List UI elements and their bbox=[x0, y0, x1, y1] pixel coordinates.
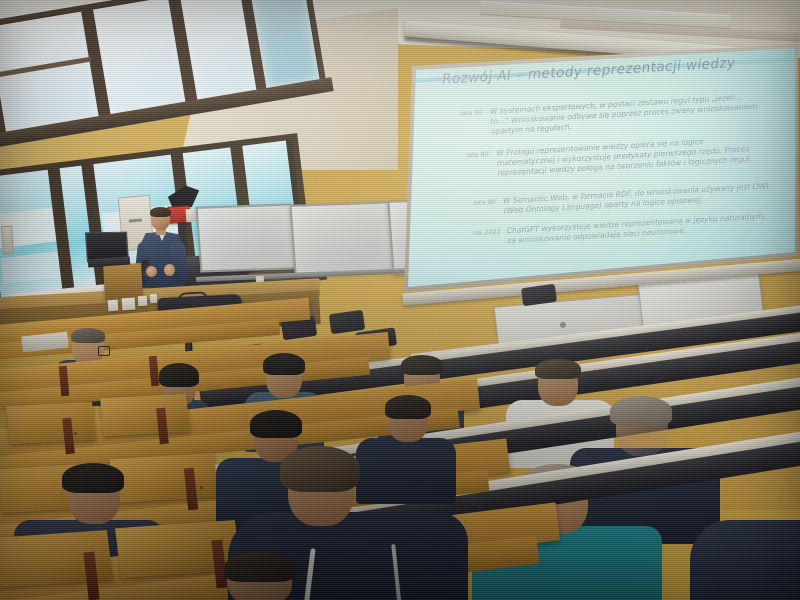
desk-object bbox=[122, 298, 136, 311]
slide-row-text: W systemach ekspertowych, w postaci zest… bbox=[490, 92, 759, 138]
lecture-hall-photo: Rozwój AI – metody reprezentacji wiedzy … bbox=[0, 0, 800, 600]
attendee-hair bbox=[610, 396, 672, 426]
bench-screw bbox=[200, 486, 203, 489]
attendee-hair bbox=[159, 363, 199, 387]
slide-row-era: lata 80' bbox=[442, 149, 490, 161]
projection-screen: Rozwój AI – metody reprezentacji wiedzy … bbox=[398, 38, 796, 300]
attendee-partial-torso bbox=[690, 520, 800, 600]
presenter-hair bbox=[150, 207, 171, 217]
glasses-icon bbox=[98, 346, 110, 356]
lectern bbox=[103, 263, 143, 299]
slide-row-text: W Semantic Web, w formacie RDF, do wnios… bbox=[503, 181, 772, 217]
slide-row-era: lata 90' bbox=[449, 197, 497, 209]
attendee-hair bbox=[62, 463, 124, 493]
whiteboard-panel-2[interactable] bbox=[289, 201, 394, 274]
screen-surface: Rozwój AI – metody reprezentacji wiedzy … bbox=[398, 44, 798, 292]
slide-row-era: rok 2022 bbox=[453, 226, 501, 238]
attendee-hair bbox=[535, 359, 581, 379]
seat-back-panel[interactable] bbox=[100, 394, 190, 436]
attendee-hair bbox=[71, 328, 105, 343]
attendee-torso bbox=[356, 438, 456, 504]
presenter-hand-left bbox=[146, 266, 157, 277]
bench-screw bbox=[74, 432, 77, 435]
wall-socket[interactable] bbox=[1, 226, 14, 255]
slide-row-text: ChatGPT wykorzystuje wiedzę reprezentowa… bbox=[507, 211, 776, 247]
seat-back-panel[interactable] bbox=[110, 453, 219, 503]
attendee-hair bbox=[250, 410, 302, 438]
slide-row-era: lata 60' bbox=[436, 107, 484, 119]
attendee-hair bbox=[401, 355, 443, 375]
slide-row: lata 60' W systemach ekspertowych, w pos… bbox=[436, 92, 759, 141]
desk-object bbox=[108, 300, 119, 312]
slide-row-text: W Prologu reprezentowanie wiedzy opiera … bbox=[496, 133, 765, 179]
attendee-hair bbox=[280, 446, 360, 492]
slide-row: lata 80' W Prologu reprezentowanie wiedz… bbox=[442, 133, 765, 182]
seat-back-panel[interactable] bbox=[6, 402, 96, 444]
attendee-hair bbox=[385, 395, 431, 419]
laptop-bag-handle bbox=[178, 291, 208, 303]
presenter-hand-right bbox=[164, 264, 175, 276]
slide-content: Rozwój AI – metody reprezentacji wiedzy … bbox=[398, 44, 798, 292]
attendee-hair bbox=[263, 353, 305, 375]
desk-object bbox=[150, 294, 158, 303]
attendee-hair bbox=[224, 552, 296, 582]
desk-object bbox=[138, 296, 148, 307]
whiteboard-panel-1[interactable] bbox=[196, 203, 297, 272]
